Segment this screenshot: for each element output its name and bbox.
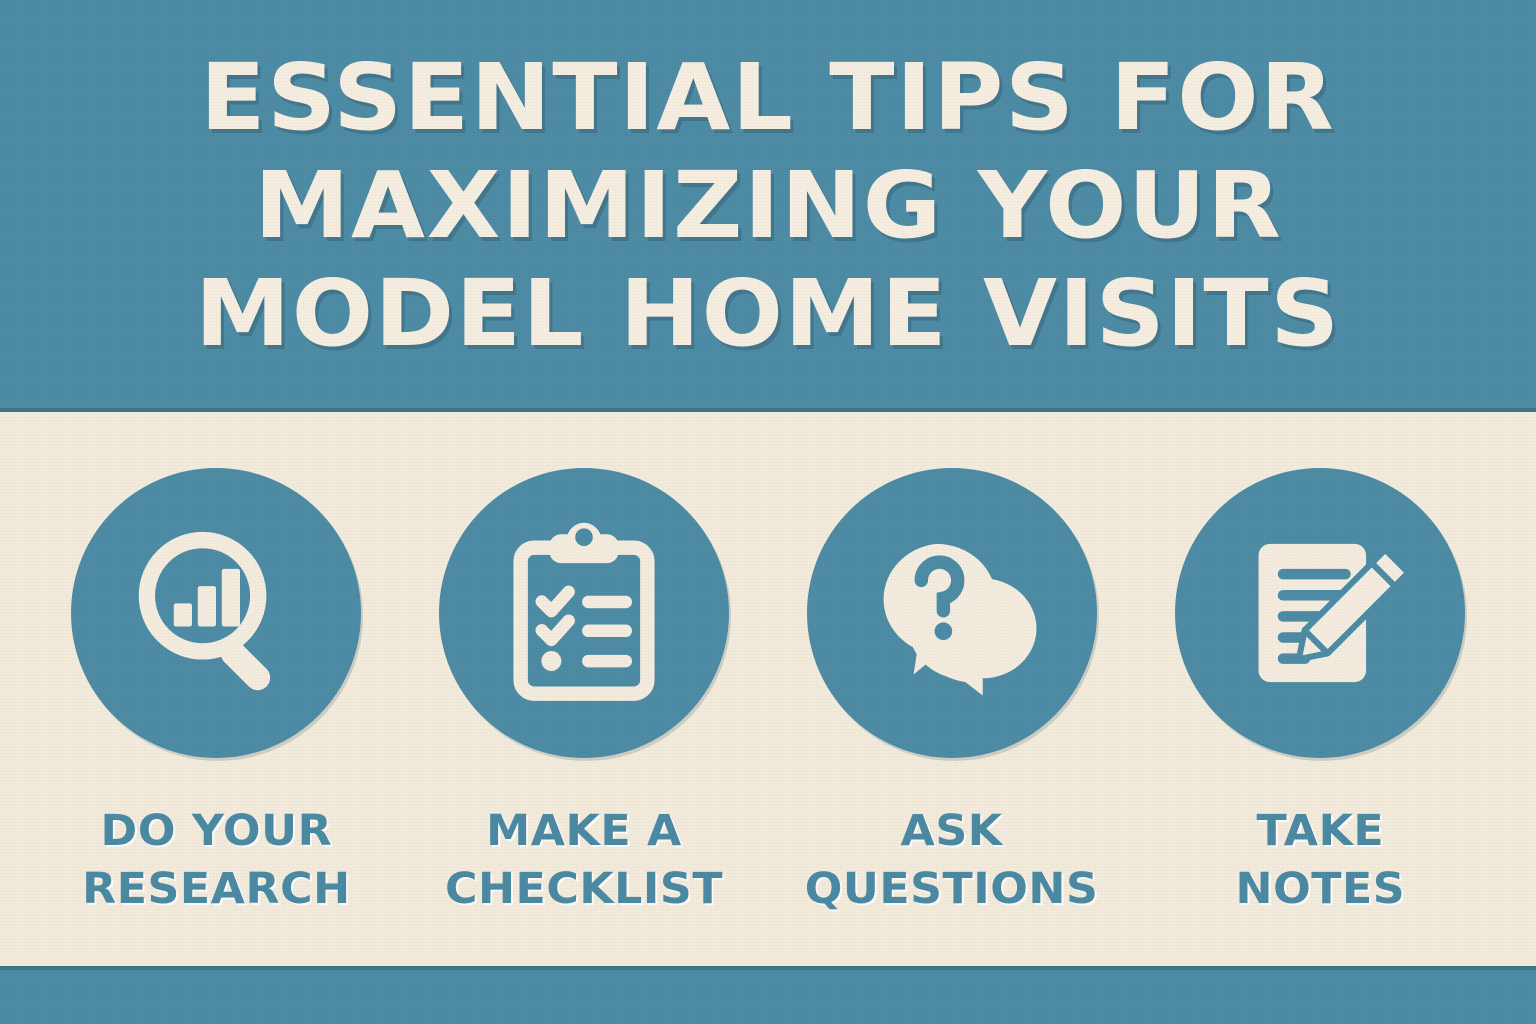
tip-label-make-a-checklist: MAKE A CHECKLIST — [445, 802, 723, 918]
infographic-poster: ESSENTIAL TIPS FOR MAXIMIZING YOUR MODEL… — [0, 0, 1536, 1024]
document-pencil-icon — [1224, 517, 1416, 709]
tip-card-do-your-research: DO YOUR RESEARCH — [56, 412, 376, 918]
title-line-2: MAXIMIZING YOUR — [254, 152, 1282, 260]
tip-label-line-1: ASK — [805, 802, 1099, 860]
magnifier-bar-chart-icon — [120, 517, 312, 709]
tip-card-take-notes: TAKE NOTES — [1160, 412, 1480, 918]
icon-circle-checklist — [439, 468, 729, 758]
tip-label-line-2: NOTES — [1235, 860, 1405, 918]
tip-label-line-1: TAKE — [1235, 802, 1405, 860]
tip-label-take-notes: TAKE NOTES — [1235, 802, 1405, 918]
clipboard-checklist-icon — [488, 517, 680, 709]
tip-card-make-a-checklist: MAKE A CHECKLIST — [424, 412, 744, 918]
icon-circle-research — [71, 468, 361, 758]
title-line-3: MODEL HOME VISITS — [195, 260, 1341, 368]
title-line-1: ESSENTIAL TIPS FOR — [200, 44, 1335, 152]
tip-label-line-2: CHECKLIST — [445, 860, 723, 918]
tip-label-line-1: MAKE A — [445, 802, 723, 860]
tip-card-ask-questions: ASK QUESTIONS — [792, 412, 1112, 918]
icon-circle-notes — [1175, 468, 1465, 758]
tip-label-line-2: QUESTIONS — [805, 860, 1099, 918]
footer-band — [0, 966, 1536, 1024]
speech-bubbles-question-icon — [856, 517, 1048, 709]
icon-circle-questions — [807, 468, 1097, 758]
tips-row: DO YOUR RESEARCH — [0, 412, 1536, 966]
tip-label-line-2: RESEARCH — [82, 860, 351, 918]
poster-title: ESSENTIAL TIPS FOR MAXIMIZING YOUR MODEL… — [0, 0, 1536, 412]
tip-label-ask-questions: ASK QUESTIONS — [805, 802, 1099, 918]
tip-label-line-1: DO YOUR — [82, 802, 351, 860]
tip-label-do-your-research: DO YOUR RESEARCH — [82, 802, 351, 918]
